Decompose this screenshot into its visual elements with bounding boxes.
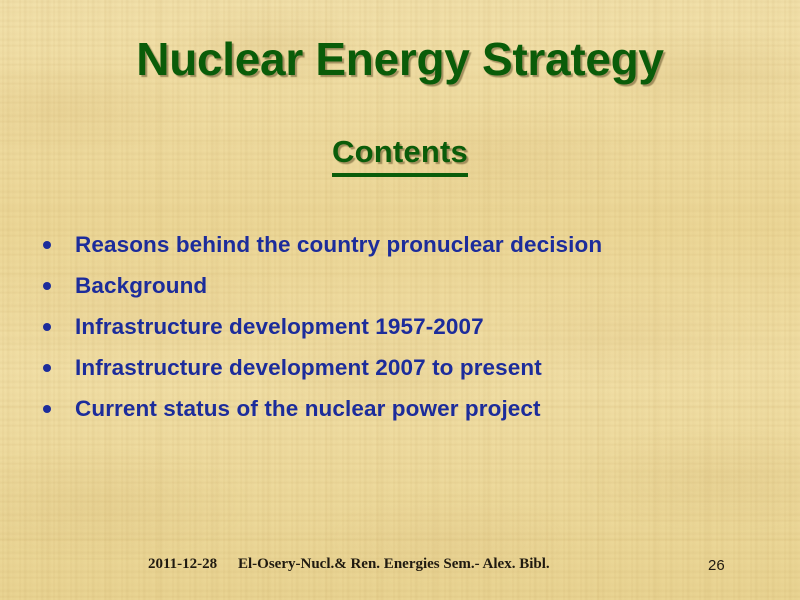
list-item-label: Infrastructure development 2007 to prese… <box>75 355 542 381</box>
list-item: Background <box>38 265 778 306</box>
presentation-slide: Nuclear Energy Strategy Contents Reasons… <box>0 0 800 600</box>
slide-content: Nuclear Energy Strategy Contents Reasons… <box>0 0 800 600</box>
list-item-label: Infrastructure development 1957-2007 <box>75 314 484 340</box>
bullet-dot-icon <box>43 323 51 331</box>
bullet-dot-icon <box>43 241 51 249</box>
list-item-label: Background <box>75 273 207 299</box>
slide-subtitle: Contents <box>332 134 468 177</box>
list-item: Reasons behind the country pronuclear de… <box>38 224 778 265</box>
list-item: Current status of the nuclear power proj… <box>38 388 778 429</box>
footer-caption: El-Osery-Nucl.& Ren. Energies Sem.- Alex… <box>238 556 550 573</box>
list-item-label: Reasons behind the country pronuclear de… <box>75 232 602 258</box>
list-item: Infrastructure development 2007 to prese… <box>38 347 778 388</box>
bullet-dot-icon <box>43 364 51 372</box>
list-item-label: Current status of the nuclear power proj… <box>75 396 541 422</box>
contents-bullet-list: Reasons behind the country pronuclear de… <box>38 224 778 429</box>
slide-footer: 2011-12-28 El-Osery-Nucl.& Ren. Energies… <box>0 556 800 578</box>
bullet-dot-icon <box>43 282 51 290</box>
slide-title: Nuclear Energy Strategy <box>0 34 800 86</box>
footer-date: 2011-12-28 <box>148 556 217 573</box>
bullet-dot-icon <box>43 405 51 413</box>
footer-page-number: 26 <box>708 557 725 574</box>
list-item: Infrastructure development 1957-2007 <box>38 306 778 347</box>
slide-subtitle-container: Contents <box>0 134 800 177</box>
